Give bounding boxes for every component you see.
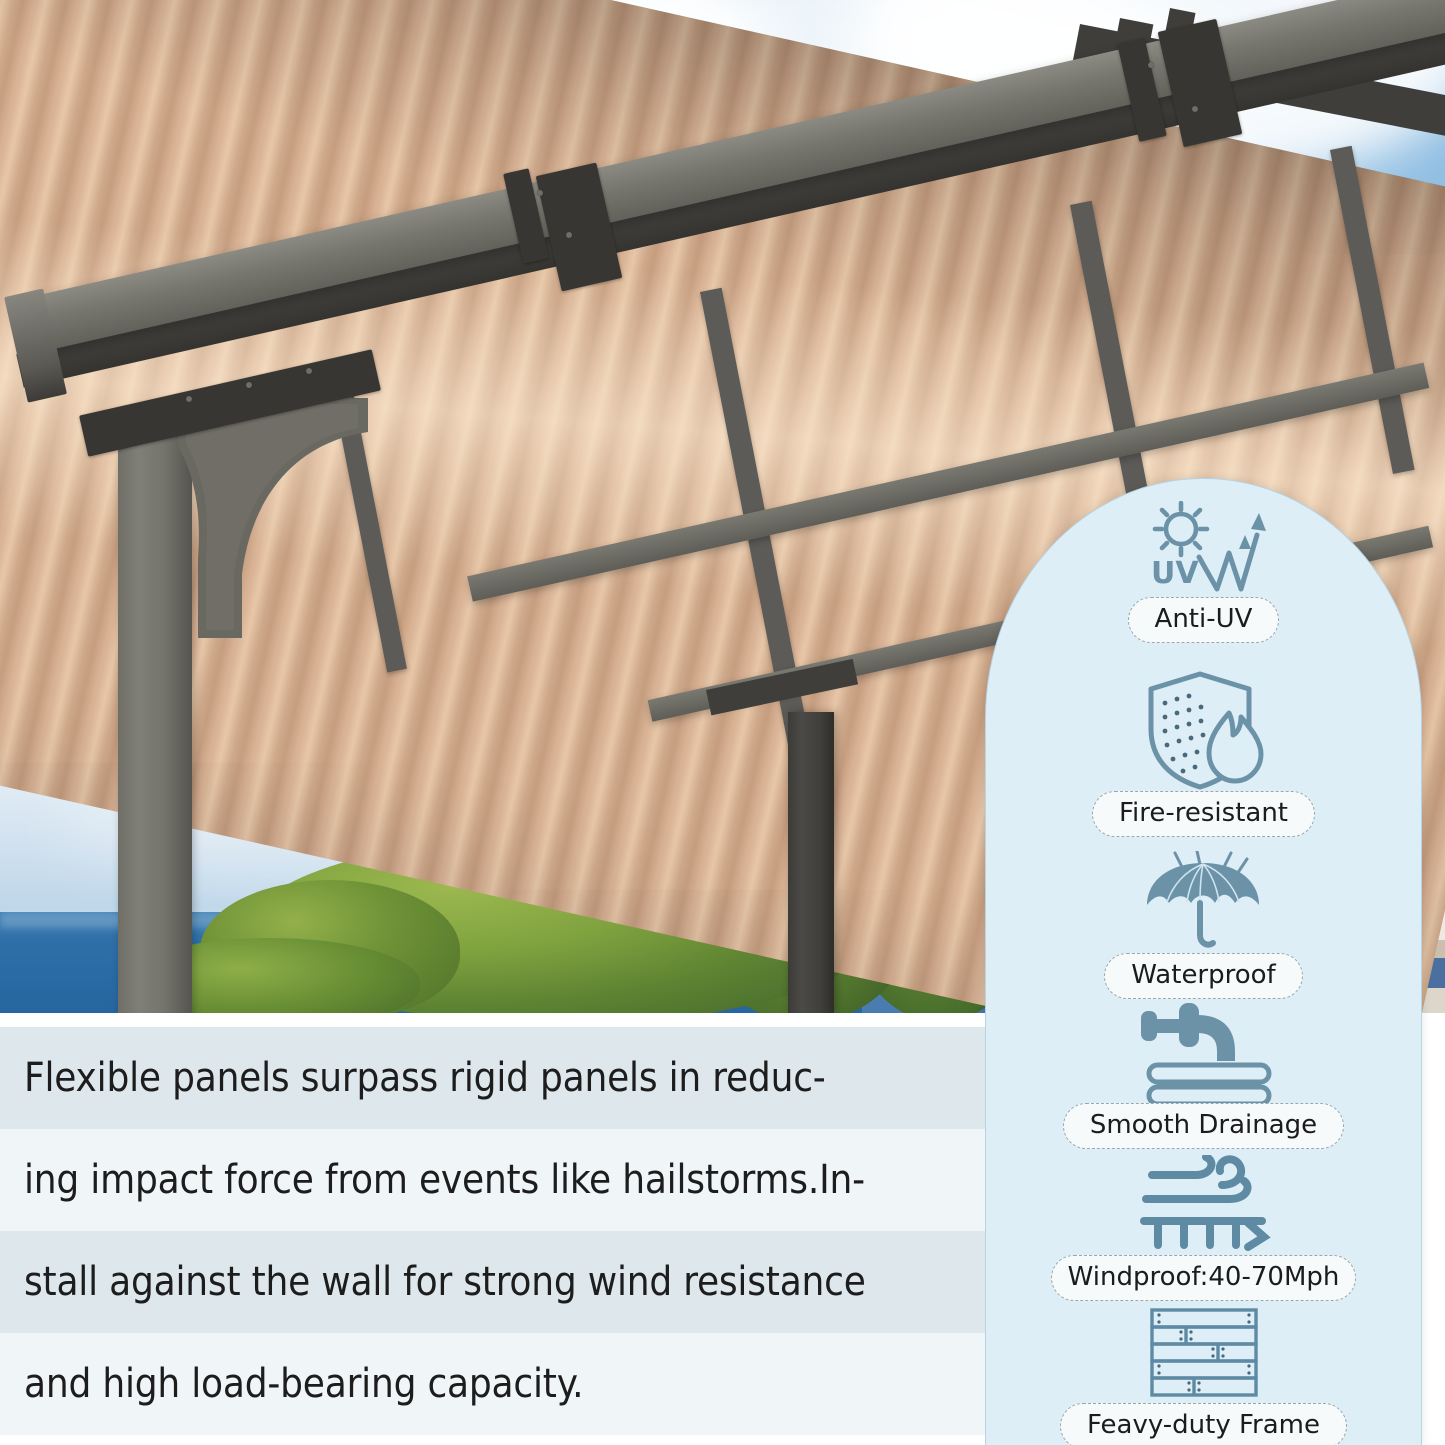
stacked-frame-beams-icon bbox=[1148, 1307, 1260, 1403]
screw bbox=[537, 190, 543, 196]
feature-label-pill: Smooth Drainage bbox=[1063, 1103, 1344, 1149]
product-marketing-image: UV Anti-UV bbox=[0, 0, 1445, 1445]
feature-label-pill: Waterproof bbox=[1104, 953, 1302, 999]
feature-label-pill: Anti-UV bbox=[1128, 597, 1280, 643]
screw bbox=[1192, 106, 1198, 112]
description-line: Flexible panels surpass rigid panels in … bbox=[0, 1027, 985, 1129]
description-line-text: Flexible panels surpass rigid panels in … bbox=[0, 1055, 826, 1101]
umbrella-rain-icon bbox=[1139, 851, 1269, 953]
description-line-text: and high load-bearing capacity. bbox=[0, 1361, 583, 1407]
svg-text:UV: UV bbox=[1151, 556, 1199, 591]
screw bbox=[1148, 62, 1154, 68]
feature-fire-resistant: Fire-resistant bbox=[986, 669, 1421, 837]
support-post-right bbox=[788, 712, 834, 1013]
text-top-spacer bbox=[0, 1013, 985, 1027]
description-text-block: Flexible panels surpass rigid panels in … bbox=[0, 1013, 985, 1445]
screw bbox=[186, 396, 192, 402]
screw bbox=[306, 368, 312, 374]
uv-sun-arrows-icon: UV bbox=[1139, 501, 1269, 597]
screw bbox=[246, 382, 252, 388]
description-line: stall against the wall for strong wind r… bbox=[0, 1231, 985, 1333]
feature-label-pill: Windproof:40-70Mph bbox=[1051, 1255, 1357, 1301]
wind-gust-icon bbox=[1134, 1155, 1274, 1255]
faucet-hose-icon bbox=[1131, 999, 1277, 1103]
feature-waterproof: Waterproof bbox=[986, 851, 1421, 999]
features-panel: UV Anti-UV bbox=[985, 478, 1422, 1445]
feature-anti-uv: UV Anti-UV bbox=[986, 501, 1421, 643]
description-line-text: stall against the wall for strong wind r… bbox=[0, 1259, 866, 1305]
shield-flame-icon bbox=[1137, 669, 1271, 791]
decorative-corbel-bracket bbox=[178, 398, 368, 638]
screw bbox=[566, 232, 572, 238]
feature-heavy-duty-frame: Feavy-duty Frame bbox=[986, 1307, 1421, 1445]
feature-smooth-drainage: Smooth Drainage bbox=[986, 999, 1421, 1149]
description-line-text: ing impact force from events like hailst… bbox=[0, 1157, 865, 1203]
feature-label-pill: Feavy-duty Frame bbox=[1060, 1403, 1347, 1445]
description-line: and high load-bearing capacity. bbox=[0, 1333, 985, 1435]
feature-windproof: Windproof:40-70Mph bbox=[986, 1155, 1421, 1301]
description-line: ing impact force from events like hailst… bbox=[0, 1129, 985, 1231]
feature-label-pill: Fire-resistant bbox=[1092, 791, 1315, 837]
